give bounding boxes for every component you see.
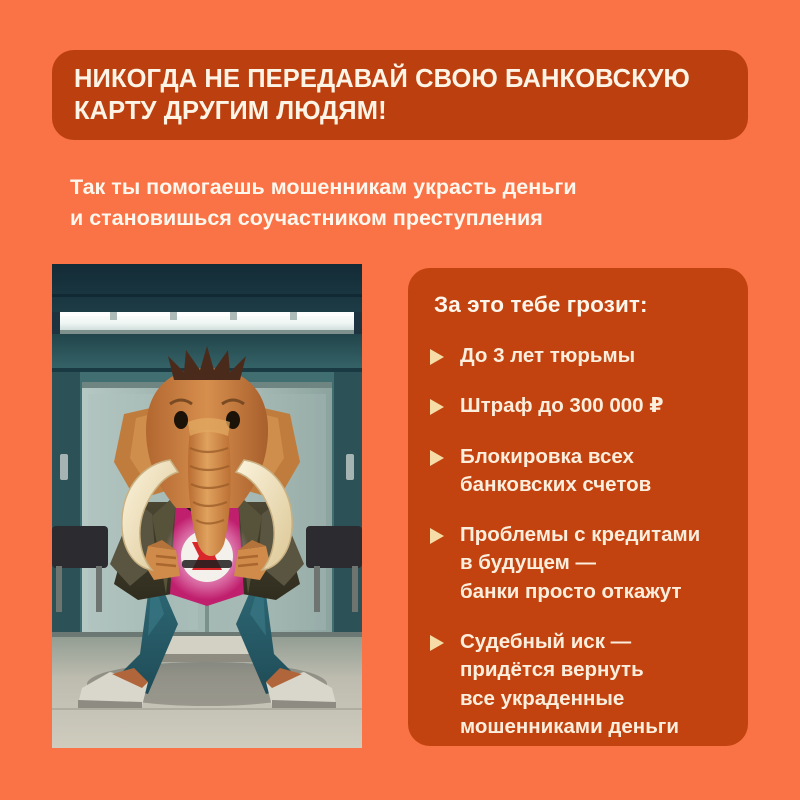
page-title: НИКОГДА НЕ ПЕРЕДАВАЙ СВОЮ БАНКОВСКУЮ КАР… <box>74 63 690 128</box>
poster-root: НИКОГДА НЕ ПЕРЕДАВАЙ СВОЮ БАНКОВСКУЮ КАР… <box>0 0 800 800</box>
triangle-right-icon <box>430 635 444 651</box>
triangle-right-icon <box>430 349 444 365</box>
penalty-list: До 3 лет тюрьмы Штраф до 300 000 ₽ Блоки… <box>430 342 726 741</box>
list-item: Блокировка всех банковских счетов <box>430 443 726 500</box>
mammoth-scene-svg <box>52 264 362 748</box>
subtitle-text: Так ты помогаешь мошенникам украсть день… <box>70 172 710 233</box>
list-item-label: Проблемы с кредитами в будущем — банки п… <box>460 521 700 606</box>
list-item-label: Штраф до 300 000 ₽ <box>460 392 664 420</box>
list-item-label: Блокировка всех банковских счетов <box>460 443 651 500</box>
ceiling <box>52 264 362 312</box>
list-item: Штраф до 300 000 ₽ <box>430 392 726 420</box>
triangle-right-icon <box>430 528 444 544</box>
penalty-card: За это тебе грозит: До 3 лет тюрьмы Штра… <box>408 268 748 746</box>
list-item: Проблемы с кредитами в будущем — банки п… <box>430 521 726 606</box>
header-banner: НИКОГДА НЕ ПЕРЕДАВАЙ СВОЮ БАНКОВСКУЮ КАР… <box>52 50 748 140</box>
list-item: Судебный иск — придётся вернуть все укра… <box>430 628 726 741</box>
list-item: До 3 лет тюрьмы <box>430 342 726 370</box>
triangle-right-icon <box>430 399 444 415</box>
triangle-right-icon <box>430 450 444 466</box>
list-item-label: До 3 лет тюрьмы <box>460 342 635 370</box>
mammoth-illustration <box>52 264 362 748</box>
penalty-card-heading: За это тебе грозит: <box>434 292 726 318</box>
list-item-label: Судебный иск — придётся вернуть все укра… <box>460 628 679 741</box>
